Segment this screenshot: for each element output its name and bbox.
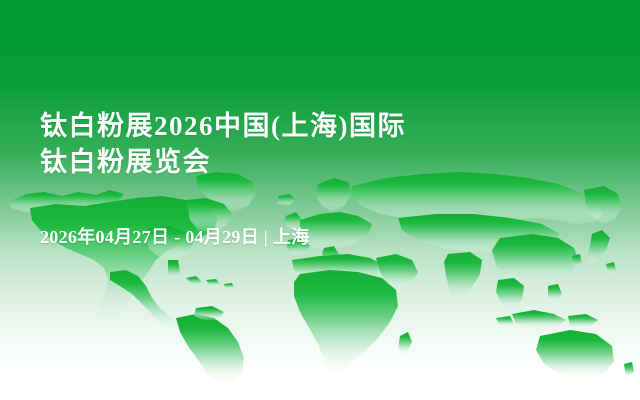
event-banner: 钛白粉展2026中国(上海)国际 钛白粉展览会 2026年04月27日 - 04… bbox=[0, 0, 640, 400]
headline-line-1: 钛白粉展2026中国(上海)国际 bbox=[40, 108, 600, 144]
date-location-text: 2026年04月27日 - 04月29日 | 上海 bbox=[40, 226, 309, 248]
world-map-icon bbox=[0, 168, 640, 383]
map-landmasses bbox=[8, 172, 634, 383]
headline-block: 钛白粉展2026中国(上海)国际 钛白粉展览会 bbox=[40, 108, 600, 180]
headline-line-2: 钛白粉展览会 bbox=[40, 144, 600, 180]
